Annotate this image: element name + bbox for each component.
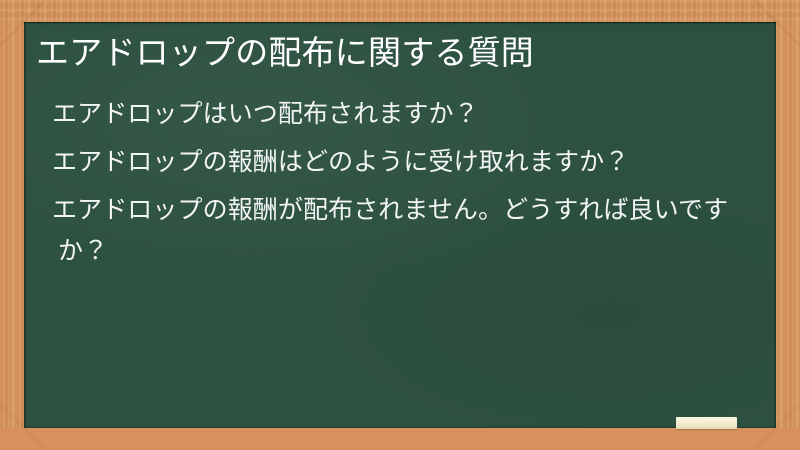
chalkboard-frame: エアドロップの配布に関する質問 エアドロップはいつ配布されますか？ エアドロップ… xyxy=(0,0,800,450)
faq-question-list: エアドロップはいつ配布されますか？ エアドロップの報酬はどのように受け取れますか… xyxy=(36,94,752,279)
chalkboard-surface: エアドロップの配布に関する質問 エアドロップはいつ配布されますか？ エアドロップ… xyxy=(24,22,776,428)
faq-question-item: エアドロップの報酬が配布されません。どうすれば良いですか？ xyxy=(36,190,752,272)
board-title: エアドロップの配布に関する質問 xyxy=(36,30,760,76)
faq-question-item: エアドロップの報酬はどのように受け取れますか？ xyxy=(36,142,752,183)
chalk-stick-icon xyxy=(676,417,737,429)
frame-bottom-tray xyxy=(0,428,800,450)
faq-question-item: エアドロップはいつ配布されますか？ xyxy=(36,94,752,135)
frame-top-rail xyxy=(0,0,800,22)
